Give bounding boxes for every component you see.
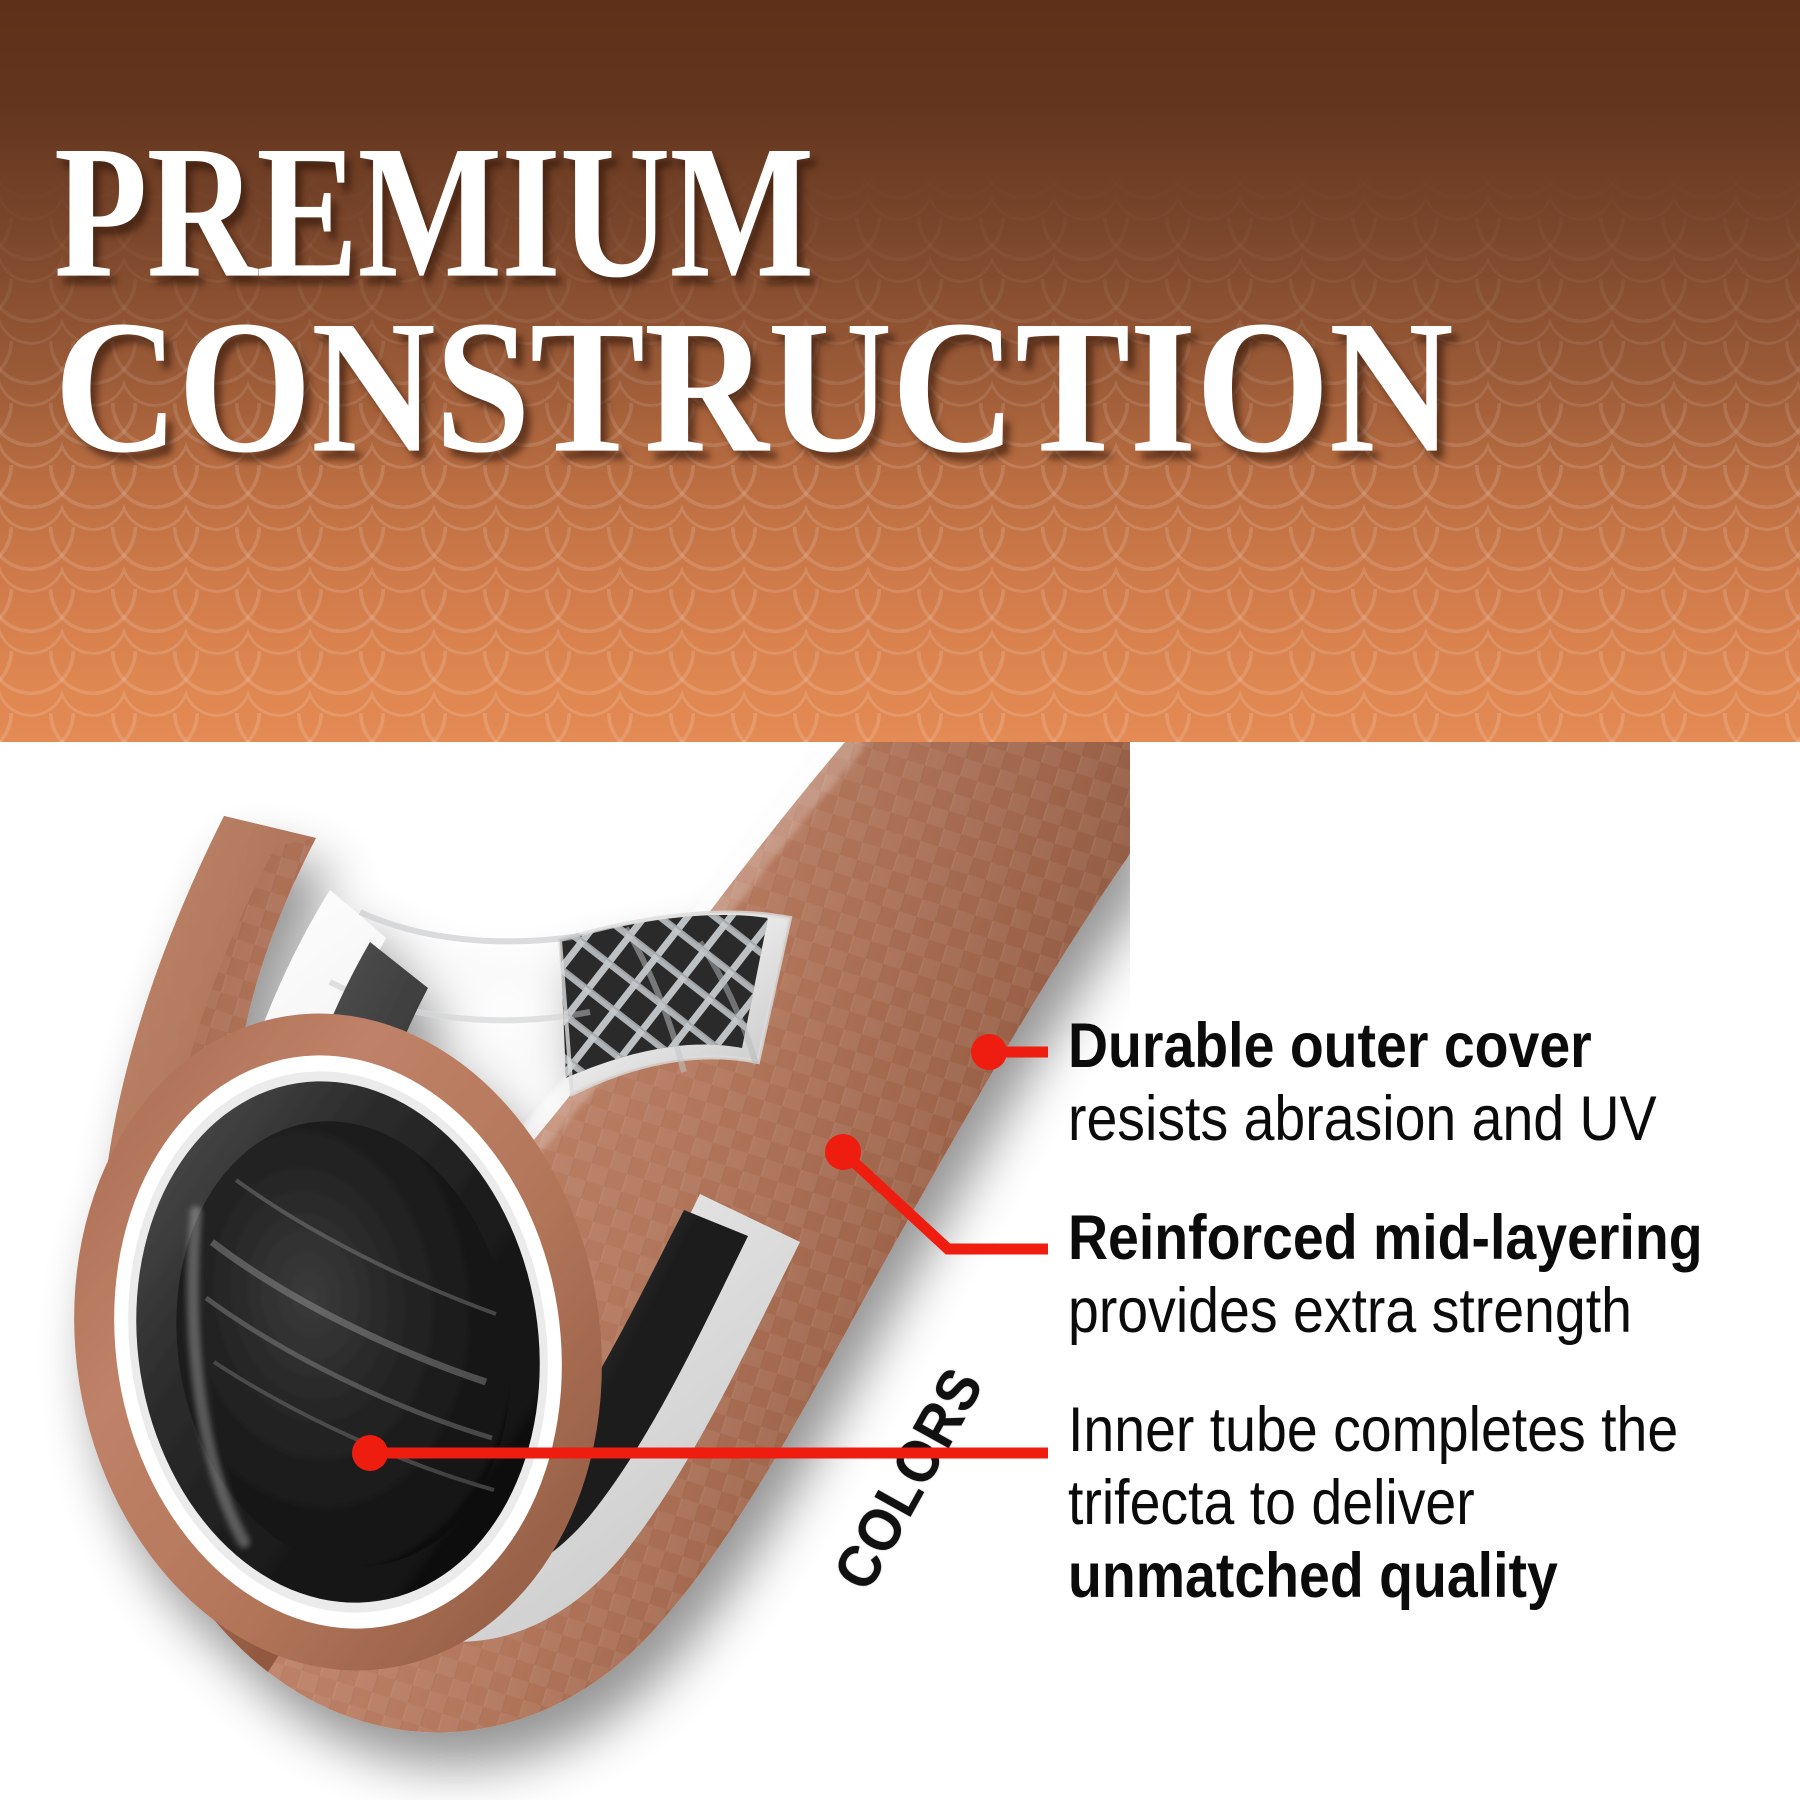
hose-body-group xyxy=(28,742,1130,1732)
header-banner: PREMIUM CONSTRUCTION xyxy=(0,0,1800,742)
callout-outer-cover-subline: resists abrasion and UV xyxy=(1068,1083,1698,1156)
callout-mid-layering-subline: provides extra strength xyxy=(1068,1275,1698,1348)
title-line-construction: CONSTRUCTION xyxy=(54,303,1722,471)
callout-text-column: Durable outer cover resists abrasion and… xyxy=(1068,1010,1784,1614)
callout-inner-tube: Inner tube completes the trifecta to del… xyxy=(1068,1394,1784,1613)
page-title: PREMIUM CONSTRUCTION xyxy=(54,128,1774,459)
callout-inner-tube-line-2: trifecta to deliver xyxy=(1068,1467,1698,1540)
infographic-canvas: PREMIUM CONSTRUCTION xyxy=(0,0,1800,1800)
hose-diagram-svg xyxy=(0,742,1130,1800)
callout-inner-tube-line-3: unmatched quality xyxy=(1068,1540,1698,1613)
title-line-premium: PREMIUM xyxy=(54,128,1533,296)
callout-outer-cover-headline: Durable outer cover xyxy=(1068,1010,1698,1083)
callout-mid-layering-headline: Reinforced mid-layering xyxy=(1068,1202,1698,1275)
callout-mid-layering: Reinforced mid-layering provides extra s… xyxy=(1068,1202,1784,1348)
hose-cutaway-illustration: COLORS xyxy=(0,742,1130,1800)
callout-inner-tube-line-1: Inner tube completes the xyxy=(1068,1394,1698,1467)
callout-outer-cover: Durable outer cover resists abrasion and… xyxy=(1068,1010,1784,1156)
